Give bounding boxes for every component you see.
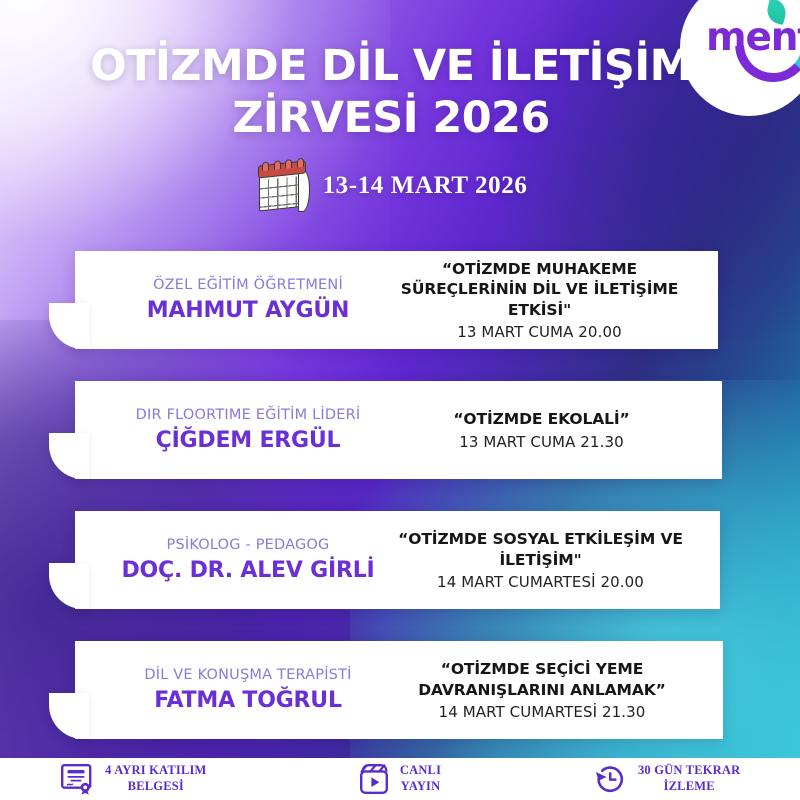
session-topic: “OTİZMDE SEÇİCİ YEME DAVRANIŞLARINI ANLA… [387,659,697,700]
session-slot: 13 MART CUMA 20.00 [387,323,692,341]
speaker-role: DİL VE KONUŞMA TERAPİSTİ [109,666,387,684]
event-date-row: 13-14 MART 2026 [40,161,742,211]
footer-label-line2: İZLEME [664,779,715,793]
footer-item-certificate: 4 AYRI KATILIM BELGESİ [0,763,267,795]
session-card[interactable]: ÖZEL EĞİTİM ÖĞRETMENİ MAHMUT AYGÜN “OTİZ… [75,251,718,349]
title-line-1: OTİZMDE DİL VE İLETİŞİM [90,41,692,91]
speaker-role: DIR FLOORTIME EĞİTİM LİDERİ [109,406,387,424]
session-card[interactable]: PSİKOLOG - PEDAGOG DOÇ. DR. ALEV GİRLİ “… [75,511,720,609]
session-topic: “OTİZMDE EKOLALİ” [387,409,696,430]
session-slot: 13 MART CUMA 21.30 [387,433,696,451]
session-topic-block: “OTİZMDE SOSYAL ETKİLEŞİM VE İLETİŞİM" 1… [387,529,720,591]
clock-rewind-icon [593,763,627,795]
event-date: 13-14 MART 2026 [323,172,528,200]
footer-label: CANLI YAYIN [400,763,441,794]
session-topic: “OTİZMDE MUHAKEME SÜREÇLERİNİN DİL VE İL… [387,259,692,321]
session-speaker-block: ÖZEL EĞİTİM ÖĞRETMENİ MAHMUT AYGÜN [75,276,387,325]
title-line-2: ZİRVESİ 2026 [40,92,742,144]
speaker-name: ÇİĞDEM ERGÜL [109,428,387,454]
session-card[interactable]: DIR FLOORTIME EĞİTİM LİDERİ ÇİĞDEM ERGÜL… [75,381,722,479]
session-speaker-block: DİL VE KONUŞMA TERAPİSTİ FATMA TOĞRUL [75,666,387,715]
smile-arc-icon [735,42,800,84]
calendar-icon [255,161,309,211]
logo-inner: menta [706,12,800,84]
session-topic-block: “OTİZMDE MUHAKEME SÜREÇLERİNİN DİL VE İL… [387,259,718,342]
footer-item-replay: 30 GÜN TEKRAR İZLEME [533,763,800,795]
footer-benefits: 4 AYRI KATILIM BELGESİ CANLI YAYIN [0,758,800,800]
session-speaker-block: PSİKOLOG - PEDAGOG DOÇ. DR. ALEV GİRLİ [75,536,387,585]
footer-item-live: CANLI YAYIN [267,763,534,795]
speaker-role: ÖZEL EĞİTİM ÖĞRETMENİ [109,276,387,294]
speaker-name: DOÇ. DR. ALEV GİRLİ [109,558,387,584]
speaker-name: MAHMUT AYGÜN [109,298,387,324]
session-slot: 14 MART CUMARTESİ 20.00 [387,573,694,591]
live-play-icon [359,763,389,795]
header: OTİZMDE DİL VE İLETİŞİM ZİRVESİ 2026 13-… [0,40,800,211]
calendar-curl [298,170,310,212]
session-speaker-block: DIR FLOORTIME EĞİTİM LİDERİ ÇİĞDEM ERGÜL [75,406,387,455]
session-topic: “OTİZMDE SOSYAL ETKİLEŞİM VE İLETİŞİM" [387,529,694,570]
footer-label: 4 AYRI KATILIM BELGESİ [105,763,206,794]
poster-root: menta OTİZMDE DİL VE İLETİŞİM ZİRVESİ 20… [0,0,800,800]
speaker-role: PSİKOLOG - PEDAGOG [109,536,387,554]
footer-label-line1: 30 GÜN TEKRAR [638,763,740,777]
footer-label-line1: 4 AYRI KATILIM [105,763,206,777]
speaker-name: FATMA TOĞRUL [109,688,387,714]
footer-label-line2: BELGESİ [128,779,184,793]
session-list: ÖZEL EĞİTİM ÖĞRETMENİ MAHMUT AYGÜN “OTİZ… [0,251,800,771]
page-title: OTİZMDE DİL VE İLETİŞİM ZİRVESİ 2026 [40,40,742,145]
footer-label-line1: CANLI [400,763,441,777]
session-topic-block: “OTİZMDE SEÇİCİ YEME DAVRANIŞLARINI ANLA… [387,659,723,721]
session-topic-block: “OTİZMDE EKOLALİ” 13 MART CUMA 21.30 [387,409,722,451]
footer-label-line2: YAYIN [401,779,441,793]
session-slot: 14 MART CUMARTESİ 21.30 [387,703,697,721]
session-card[interactable]: DİL VE KONUŞMA TERAPİSTİ FATMA TOĞRUL “O… [75,641,723,739]
certificate-icon [60,763,94,795]
footer-label: 30 GÜN TEKRAR İZLEME [638,763,740,794]
